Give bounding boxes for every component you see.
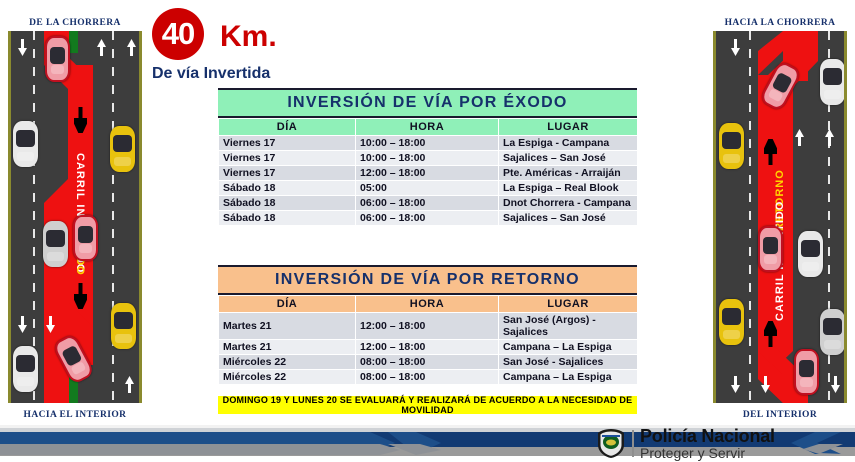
direction-arrow-black [74, 107, 87, 138]
arrow-up-icon [794, 129, 805, 146]
arrow-down-icon [730, 376, 741, 393]
cell-lugar: Campana – La Espiga [499, 340, 638, 355]
arrow-up-icon [824, 129, 835, 146]
cell-dia: Viernes 17 [219, 151, 356, 166]
cell-dia: Sábado 18 [219, 211, 356, 226]
direction-arrow-black [764, 139, 777, 170]
evaluation-note-banner: DOMINGO 19 Y LUNES 20 SE EVALUARÁ Y REAL… [218, 396, 637, 414]
cell-lugar: San José - Sajalices [499, 355, 638, 370]
cell-dia: Martes 21 [219, 340, 356, 355]
cell-lugar: Sajalices – San José [499, 211, 638, 226]
car-yellow [719, 299, 744, 345]
car-silver [820, 309, 845, 355]
cell-dia: Sábado 18 [219, 181, 356, 196]
speed-limit-header: 40 Km. De vía Invertida [152, 8, 372, 60]
car-red [794, 349, 819, 395]
cell-hora: 06:00 – 18:00 [356, 211, 499, 226]
cell-lugar: Campana – La Espiga [499, 370, 638, 385]
cell-hora: 05:00 [356, 181, 499, 196]
car-white [13, 346, 38, 392]
car-yellow [110, 126, 135, 172]
cell-lugar: San José (Argos) - Sajalices [499, 313, 638, 340]
footer-bar: Policía Nacional Proteger y Servir [0, 425, 855, 462]
table-row: Martes 2112:00 – 18:00Campana – La Espig… [219, 340, 638, 355]
car-white [820, 59, 845, 105]
cell-hora: 08:00 – 18:00 [356, 355, 499, 370]
chevron-left-group-icon [785, 431, 845, 460]
police-shield-icon [596, 428, 626, 459]
direction-arrow-black [74, 283, 87, 314]
cell-lugar: Pte. Américas - Arraiján [499, 166, 638, 181]
column-header-lugar: LUGAR [499, 296, 638, 313]
logo-divider [632, 430, 634, 457]
speed-unit-label: Km. [220, 20, 277, 54]
table-retorno-grid: DÍA HORA LUGAR Martes 2112:00 – 18:00San… [218, 295, 638, 385]
cell-dia: Sábado 18 [219, 196, 356, 211]
cell-dia: Miércoles 22 [219, 370, 356, 385]
cell-hora: 10:00 – 18:00 [356, 151, 499, 166]
cell-hora: 06:00 – 18:00 [356, 196, 499, 211]
diagram-right-caption-bottom: DEL INTERIOR [705, 410, 855, 420]
speed-subtitle: De vía Invertida [152, 65, 270, 83]
direction-arrow-black [764, 321, 777, 352]
table-row: Martes 2112:00 – 18:00San José (Argos) -… [219, 313, 638, 340]
table-row: Sábado 1805:00La Espiga – Real Blook [219, 181, 638, 196]
table-header-row: DÍA HORA LUGAR [219, 296, 638, 313]
cell-lugar: La Espiga – Real Blook [499, 181, 638, 196]
table-header-row: DÍA HORA LUGAR [219, 119, 638, 136]
column-header-hora: HORA [356, 296, 499, 313]
cell-lugar: Sajalices – San José [499, 151, 638, 166]
car-white [798, 231, 823, 277]
cell-hora: 10:00 – 18:00 [356, 136, 499, 151]
cell-dia: Miércoles 22 [219, 355, 356, 370]
road-surface-right: RETORNO CARRIL INVERTIDO [713, 31, 847, 403]
org-name: Policía Nacional [640, 427, 775, 445]
cell-dia: Viernes 17 [219, 166, 356, 181]
chevron-right-group-icon [0, 430, 460, 461]
cell-hora: 12:00 – 18:00 [356, 340, 499, 355]
cell-dia: Viernes 17 [219, 136, 356, 151]
road-surface-left: CARRIL INVERTIDO EXODO [8, 31, 142, 403]
org-motto: Proteger y Servir [640, 446, 775, 460]
diagram-left-caption-bottom: HACIA EL INTERIOR [0, 410, 150, 420]
column-header-lugar: LUGAR [499, 119, 638, 136]
road-diagram-left: DE LA CHORRERA CARRIL INVERTIDO E [0, 0, 150, 425]
cell-hora: 12:00 – 18:00 [356, 313, 499, 340]
arrow-down-icon [17, 39, 28, 56]
car-red [73, 215, 98, 261]
car-yellow [719, 123, 744, 169]
cell-dia: Martes 21 [219, 313, 356, 340]
cell-lugar: La Espiga - Campana [499, 136, 638, 151]
table-row: Miércoles 2208:00 – 18:00San José - Saja… [219, 355, 638, 370]
table-retorno: INVERSIÓN DE VÍA POR RETORNO DÍA HORA LU… [218, 265, 637, 385]
car-red [45, 36, 70, 82]
arrow-up-icon [96, 39, 107, 56]
speed-limit-circle: 40 [152, 8, 204, 60]
arrow-down-icon [730, 39, 741, 56]
table-row: Sábado 1806:00 – 18:00Dnot Chorrera - Ca… [219, 196, 638, 211]
table-row: Viernes 1710:00 – 18:00La Espiga - Campa… [219, 136, 638, 151]
arrow-up-icon [126, 39, 137, 56]
diagram-left-caption-top: DE LA CHORRERA [0, 18, 150, 28]
car-silver [43, 221, 68, 267]
car-red [758, 226, 783, 272]
table-row: Viernes 1710:00 – 18:00Sajalices – San J… [219, 151, 638, 166]
table-row: Sábado 1806:00 – 18:00Sajalices – San Jo… [219, 211, 638, 226]
arrow-down-icon [830, 376, 841, 393]
police-logo-group: Policía Nacional Proteger y Servir [596, 427, 775, 460]
cell-hora: 12:00 – 18:00 [356, 166, 499, 181]
car-yellow [111, 303, 136, 349]
table-row: Miércoles 2208:00 – 18:00Campana – La Es… [219, 370, 638, 385]
arrow-up-icon [124, 376, 135, 393]
table-retorno-title: INVERSIÓN DE VÍA POR RETORNO [218, 265, 637, 295]
car-white [13, 121, 38, 167]
table-exodo-grid: DÍA HORA LUGAR Viernes 1710:00 – 18:00La… [218, 118, 638, 226]
column-header-dia: DÍA [219, 119, 356, 136]
diagram-right-caption-top: HACIA LA CHORRERA [705, 18, 855, 28]
table-row: Viernes 1712:00 – 18:00Pte. Américas - A… [219, 166, 638, 181]
table-exodo-title: INVERSIÓN DE VÍA POR ÉXODO [218, 88, 637, 118]
arrow-down-icon [760, 376, 771, 393]
table-exodo: INVERSIÓN DE VÍA POR ÉXODO DÍA HORA LUGA… [218, 88, 637, 226]
column-header-dia: DÍA [219, 296, 356, 313]
arrow-down-icon [45, 316, 56, 333]
cell-lugar: Dnot Chorrera - Campana [499, 196, 638, 211]
arrow-down-icon [17, 316, 28, 333]
road-diagram-right: HACIA LA CHORRERA RETORNO CARRIL INVERTI… [705, 0, 855, 425]
cell-hora: 08:00 – 18:00 [356, 370, 499, 385]
column-header-hora: HORA [356, 119, 499, 136]
